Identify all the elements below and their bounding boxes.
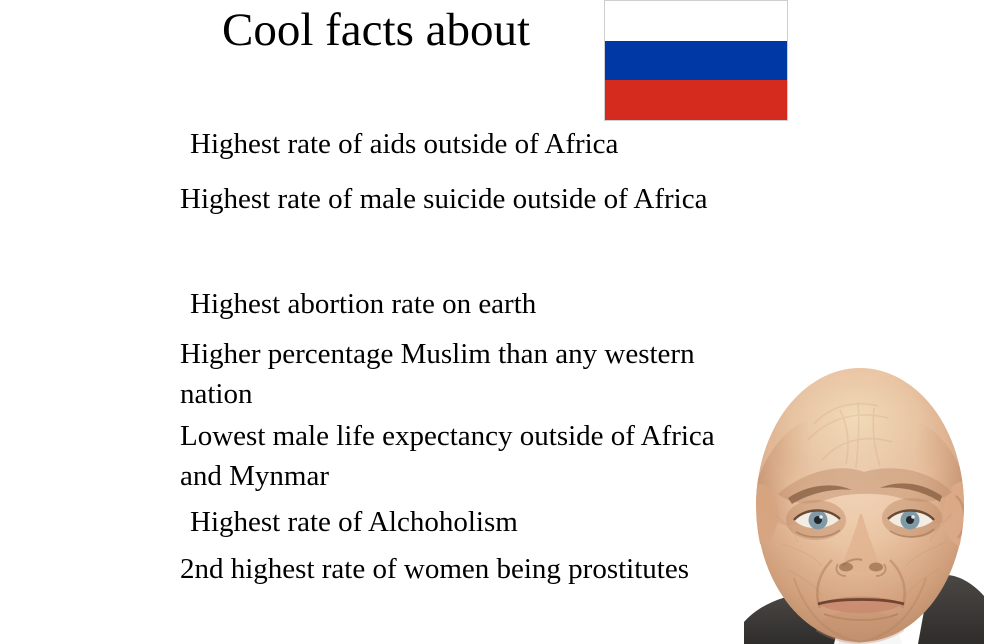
list-item: Highest abortion rate on earth <box>190 284 750 324</box>
list-item: 2nd highest rate of women being prostitu… <box>180 549 740 589</box>
russian-flag-icon <box>604 0 788 121</box>
meme-canvas: Cool facts about Highest rate of aids ou… <box>0 0 986 644</box>
putin-face-photo <box>742 364 986 644</box>
list-item: Highest rate of Alchoholism <box>190 502 750 542</box>
page-title: Cool facts about <box>222 2 530 58</box>
flag-band-blue <box>605 41 787 81</box>
flag-band-white <box>605 1 787 41</box>
list-item: Highest rate of male suicide outside of … <box>180 179 740 219</box>
list-item: Highest rate of aids outside of Africa <box>190 124 750 164</box>
flag-band-red <box>605 80 787 120</box>
list-item: Lowest male life expectancy outside of A… <box>180 416 755 496</box>
list-item: Higher percentage Muslim than any wester… <box>180 334 740 414</box>
